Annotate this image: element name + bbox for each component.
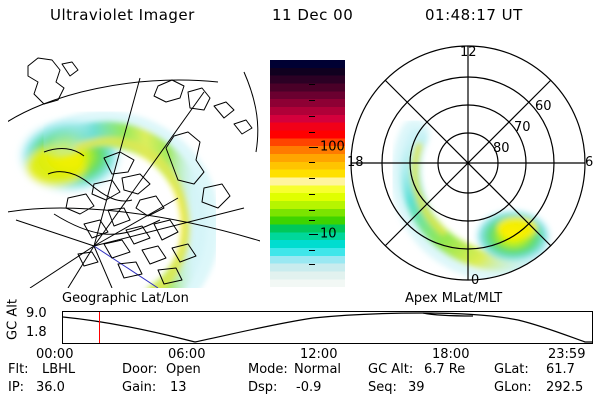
orbit-y-axis-label: GC Alt xyxy=(6,296,21,344)
orbit-altitude-panel[interactable]: GC Alt 9.0 1.8 00:00 06:00 12:00 18:00 2… xyxy=(0,300,600,355)
mlat-label-80: 80 xyxy=(493,141,510,156)
colorbar-tick-minor xyxy=(309,132,315,133)
mlat-label-60: 60 xyxy=(535,99,552,114)
time-tick-1800: 18:00 xyxy=(432,347,469,362)
time-tick-0600: 06:00 xyxy=(168,347,205,362)
mlt-label-0: 0 xyxy=(471,273,479,288)
colorbar: photon cm-2s-1 100 10 xyxy=(270,60,345,295)
mlt-label-6: 6 xyxy=(585,155,593,170)
status-seq-label: Seq: xyxy=(368,380,397,395)
status-glon-label: GLon: xyxy=(494,380,532,395)
status-dsp-value: -0.9 xyxy=(296,380,321,395)
mlt-label-18: 18 xyxy=(347,155,364,170)
colorbar-gradient-box xyxy=(270,60,294,268)
colorbar-tick-minor xyxy=(309,84,315,85)
status-ip-value: 36.0 xyxy=(36,380,65,395)
colorbar-tick-minor xyxy=(309,220,315,221)
polar-aurora-plot xyxy=(345,42,595,292)
colorbar-tick-minor xyxy=(309,264,315,265)
status-gain-value: 13 xyxy=(170,380,187,395)
app-title: Ultraviolet Imager xyxy=(50,6,195,24)
status-ip-label: IP: xyxy=(8,380,24,395)
time-tick-2359: 23:59 xyxy=(548,347,585,362)
current-time-marker[interactable] xyxy=(99,312,100,343)
header-bar: Ultraviolet Imager 11 Dec 00 01:48:17 UT xyxy=(0,6,600,28)
colorbar-tick-minor xyxy=(309,100,315,101)
status-seq-value: 39 xyxy=(408,380,425,395)
time-tick-1200: 12:00 xyxy=(300,347,337,362)
status-mode-value: Normal xyxy=(294,362,341,377)
status-door-value: Open xyxy=(166,362,201,377)
colorbar-label-10: 10 xyxy=(320,227,337,242)
status-glat-value: 61.7 xyxy=(546,362,575,377)
colorbar-tick-major-100 xyxy=(309,147,318,148)
colorbar-tick-minor xyxy=(309,116,315,117)
colorbar-tick-minor xyxy=(309,178,315,179)
geographic-aurora-map xyxy=(8,48,260,288)
time-tick-0000: 00:00 xyxy=(36,347,73,362)
orbit-y-tick-low: 1.8 xyxy=(26,325,47,340)
status-dsp-label: Dsp: xyxy=(248,380,277,395)
status-door-label: Door: xyxy=(122,362,157,377)
status-mode-label: Mode: xyxy=(248,362,288,377)
orbit-y-tick-high: 9.0 xyxy=(26,306,47,321)
colorbar-gradient xyxy=(270,60,345,295)
orbit-altitude-curve xyxy=(63,312,592,343)
observation-time: 01:48:17 UT xyxy=(425,6,523,24)
status-gcalt-label: GC Alt: xyxy=(368,362,413,377)
status-flt-value: LBHL xyxy=(42,362,75,377)
colorbar-tick-minor xyxy=(309,210,315,211)
polar-image-panel[interactable]: 12 6 0 18 60 70 80 xyxy=(345,42,595,292)
status-glat-label: GLat: xyxy=(494,362,529,377)
status-glon-value: 292.5 xyxy=(546,380,583,395)
orbit-plot-box xyxy=(62,311,593,344)
mlt-label-12: 12 xyxy=(460,45,477,60)
colorbar-label-100: 100 xyxy=(320,140,345,155)
status-flt-label: Flt: xyxy=(8,362,29,377)
status-gain-label: Gain: xyxy=(122,380,156,395)
mlat-label-70: 70 xyxy=(514,120,531,135)
colorbar-tick-major-10 xyxy=(309,234,318,235)
status-panel: Flt: LBHL Door: Open Mode: Normal GC Alt… xyxy=(0,362,600,400)
colorbar-tick-minor xyxy=(309,162,315,163)
geographic-image-panel[interactable] xyxy=(8,48,260,288)
observation-date: 11 Dec 00 xyxy=(272,6,353,24)
colorbar-tick-minor xyxy=(309,194,315,195)
status-gcalt-value: 6.7 Re xyxy=(424,362,465,377)
colorbar-tick-minor xyxy=(309,250,315,251)
